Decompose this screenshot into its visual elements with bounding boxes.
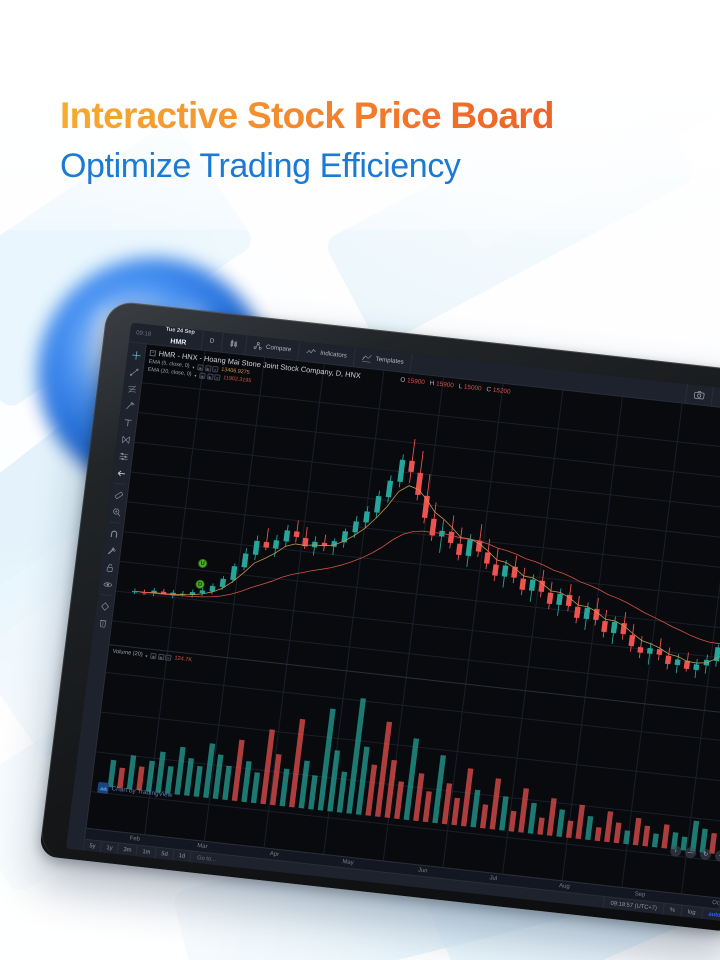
timeframe-1y[interactable]: 1y (101, 842, 119, 855)
fib-retracement-tool[interactable] (122, 379, 142, 398)
eye-icon[interactable]: ◉ (197, 364, 204, 371)
chevron-down-icon[interactable]: ▾ (145, 653, 148, 658)
settings-icon[interactable]: ◉ (205, 365, 212, 372)
ohlc-c-key: C (486, 386, 491, 393)
close-icon[interactable]: ✕ (165, 654, 172, 661)
crosshair-tool[interactable] (126, 345, 146, 364)
interval-label: D (209, 337, 214, 344)
x-tick-label: Apr (269, 851, 279, 858)
chevron-down-icon[interactable]: ▾ (194, 373, 197, 378)
app-body: − HMR - HNX - Hoang Mai Stone Joint Stoc… (66, 343, 720, 922)
nav-minus-button[interactable]: — (685, 847, 697, 859)
timeframe-1d[interactable]: 1d (173, 850, 192, 863)
x-tick-label: Mar (197, 843, 208, 850)
timeframe-1m[interactable]: 1m (137, 846, 157, 859)
lock-drawings-tool[interactable] (99, 558, 119, 577)
stay-in-drawing-mode-tool[interactable] (102, 541, 122, 560)
indicators-label: Indicators (320, 350, 348, 360)
marker-up-label: U (200, 560, 205, 566)
zoom-tool[interactable] (106, 502, 126, 521)
ohlc-h-key: H (429, 380, 434, 387)
camera-icon (694, 390, 706, 400)
hide-drawings-tool[interactable] (97, 575, 117, 594)
x-tick-label: May (342, 859, 354, 866)
chart-type-button[interactable] (221, 333, 247, 354)
eye-icon[interactable]: ◉ (150, 653, 157, 660)
price-series (110, 345, 720, 714)
brush-tool[interactable] (120, 396, 140, 415)
headline-primary: Interactive Stock Price Board (60, 96, 680, 136)
nav-back-button[interactable]: ‹ (670, 845, 682, 857)
close-icon[interactable]: ✕ (212, 366, 219, 373)
measure-tool[interactable] (109, 485, 129, 504)
timeframe-5y[interactable]: 5y (84, 840, 102, 853)
eye-icon[interactable]: ◉ (199, 373, 206, 380)
magnet-tool[interactable] (104, 524, 124, 543)
remove-drawings-tool[interactable] (93, 613, 113, 632)
interval-button[interactable]: D (202, 331, 224, 352)
headline-block: Interactive Stock Price Board Optimize T… (60, 96, 680, 186)
objects-tree-tool[interactable] (95, 597, 115, 616)
x-tick-label: Aug (559, 883, 570, 890)
nav-plus-button[interactable]: + (714, 850, 720, 862)
timeframe-3m[interactable]: 3m (118, 843, 138, 856)
marker-down-label: D (198, 581, 203, 587)
go-to-date-button[interactable]: Go to... (191, 854, 223, 863)
forecast-tool[interactable] (113, 447, 133, 466)
pattern-tool[interactable] (115, 430, 135, 449)
indicators-icon (306, 347, 317, 357)
toolbar-divider-3 (100, 594, 111, 596)
log-scale-button[interactable]: log (680, 906, 702, 919)
x-tick-label: Sep (634, 891, 645, 898)
chart-area[interactable]: − HMR - HNX - Hoang Mai Stone Joint Stoc… (84, 345, 720, 922)
tradingview-app-screen: 09:18 Tue 24 Sep HMR D Compare (66, 323, 720, 922)
candles-icon (229, 339, 239, 349)
settings-icon[interactable]: ◉ (158, 654, 165, 661)
nav-reset-button[interactable]: ↻ (699, 848, 711, 860)
chevron-down-icon[interactable]: ▾ (192, 364, 195, 369)
settings-icon[interactable]: ◉ (206, 374, 213, 381)
templates-label: Templates (375, 356, 404, 366)
timeframe-5d[interactable]: 5d (156, 848, 175, 861)
templates-icon (361, 353, 372, 363)
headline-secondary: Optimize Trading Efficiency (60, 147, 680, 186)
x-tick-label: Jun (418, 867, 428, 874)
toolbar-divider-1 (114, 483, 125, 485)
close-icon[interactable]: ✕ (214, 375, 221, 382)
arrow-tool[interactable] (111, 464, 131, 483)
x-tick-label: Feb (129, 836, 140, 843)
toolbar-divider-2 (110, 521, 121, 523)
ema-fast-controls[interactable]: ◉◉✕ (197, 364, 219, 372)
tradingview-logo-icon (97, 782, 109, 794)
trendline-tool[interactable] (124, 362, 144, 381)
ohlc-o-key: O (400, 377, 406, 384)
screenshot-button[interactable] (686, 384, 714, 406)
compare-icon (253, 341, 263, 351)
collapse-icon[interactable]: − (149, 349, 156, 356)
x-tick-label: Jul (489, 875, 497, 882)
tablet-device: 09:18 Tue 24 Sep HMR D Compare (39, 300, 720, 933)
compare-label: Compare (266, 344, 292, 354)
text-tool[interactable] (118, 413, 138, 432)
status-clock: 09:18 (129, 323, 158, 345)
percent-scale-button[interactable]: % (662, 904, 681, 917)
ohlc-l-key: L (458, 383, 462, 390)
